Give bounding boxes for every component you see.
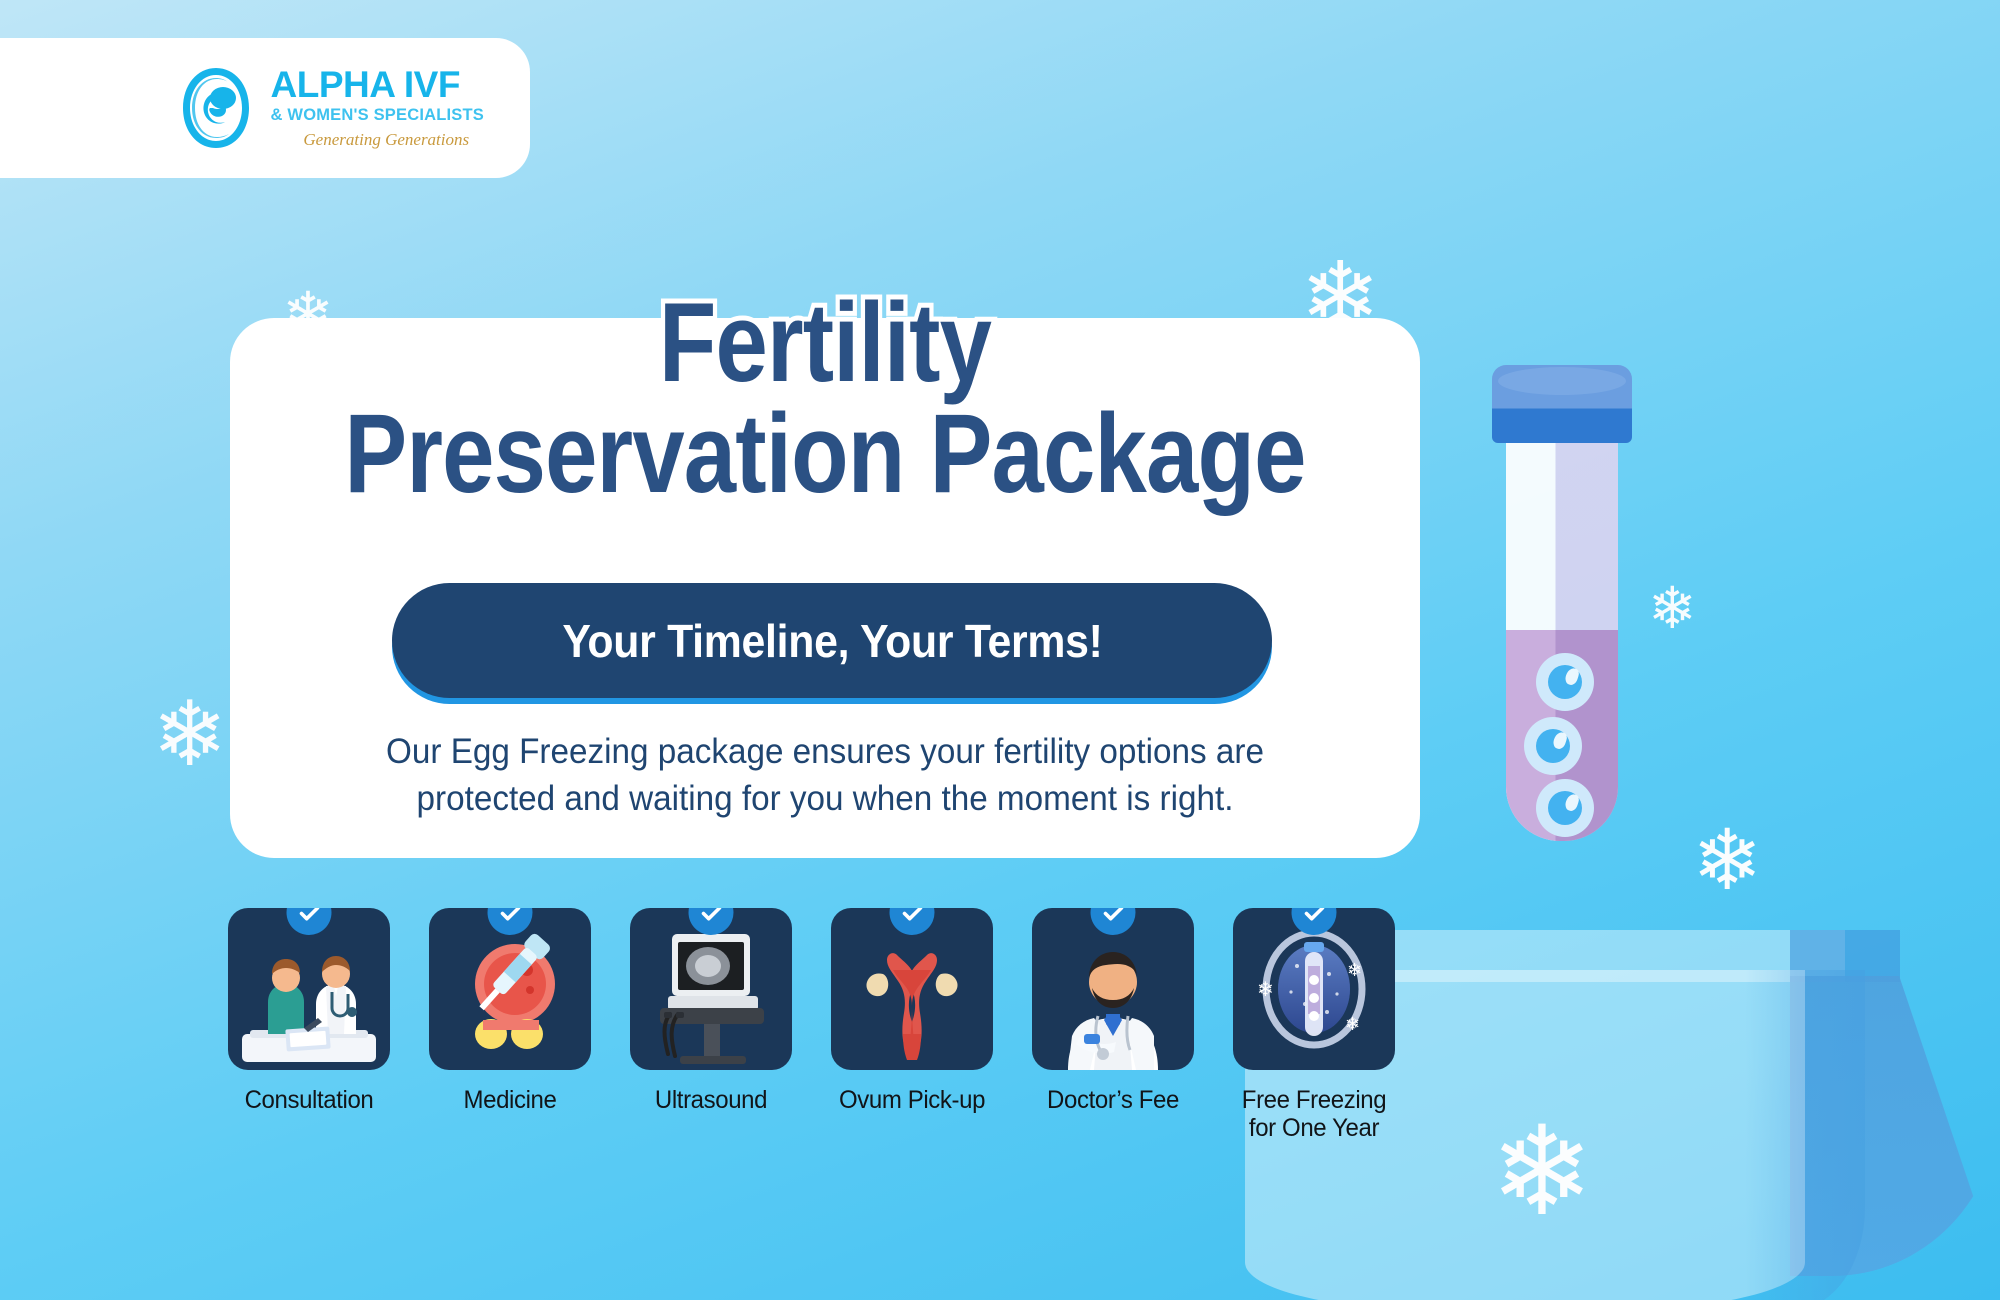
feature-tile: [1032, 908, 1194, 1070]
feature-label: Ovum Pick-up: [834, 1086, 990, 1114]
page-title-line1: Fertility: [659, 280, 991, 405]
feature-tile: [429, 908, 591, 1070]
snowflake-icon: ❄: [1692, 818, 1762, 902]
snowflake-icon: ❄: [1490, 1110, 1594, 1234]
page-title-line2: Preservation Package: [275, 399, 1375, 510]
feature-label: Free Freezing for One Year: [1236, 1086, 1392, 1142]
feature-tile: ❄ ❄ ❄: [1233, 908, 1395, 1070]
feature-item-free-freezing: ❄ ❄ ❄ Free Freezing for One Year: [1233, 908, 1395, 1142]
brand-tagline: Generating Generations: [285, 130, 469, 150]
hero-description: Our Egg Freezing package ensures your fe…: [326, 728, 1324, 823]
feature-label-line2: for One Year: [1249, 1114, 1379, 1142]
tagline-banner-text: Your Timeline, Your Terms!: [562, 614, 1102, 668]
brand-logo-card: ALPHA IVF & WOMEN'S SPECIALISTS Generati…: [0, 38, 530, 178]
snowflake-icon: ❄: [152, 690, 227, 780]
feature-label: Ultrasound: [633, 1086, 789, 1114]
feature-item-ovum-pick-up: Ovum Pick-up: [831, 908, 993, 1142]
feature-item-consultation: Consultation: [228, 908, 390, 1142]
page-title: Fertility Preservation Package: [275, 288, 1375, 510]
feature-label: Doctor’s Fee: [1035, 1086, 1191, 1114]
feature-item-medicine: Medicine: [429, 908, 591, 1142]
feature-label: Consultation: [231, 1086, 387, 1114]
feature-label-line1: Free Freezing: [1242, 1086, 1386, 1114]
svg-text:❄: ❄: [1257, 977, 1274, 1001]
test-tube-with-ova-icon: [1492, 365, 1632, 845]
feature-tile: [228, 908, 390, 1070]
feature-label: Medicine: [432, 1086, 588, 1114]
feature-item-doctors-fee: Doctor’s Fee: [1032, 908, 1194, 1142]
feature-tile: [831, 908, 993, 1070]
brand-subtitle: & WOMEN'S SPECIALISTS: [271, 103, 484, 128]
snowflake-icon: ❄: [1648, 580, 1697, 638]
feature-tile: [630, 908, 792, 1070]
feature-item-ultrasound: Ultrasound: [630, 908, 792, 1142]
alpha-ivf-spiral-embryo-icon: [177, 64, 255, 152]
brand-name: ALPHA IVF: [271, 66, 460, 104]
feature-list: Consultation: [228, 908, 1428, 1142]
tagline-banner: Your Timeline, Your Terms!: [392, 583, 1272, 698]
svg-text:❄: ❄: [1345, 1014, 1360, 1035]
svg-text:❄: ❄: [1347, 960, 1362, 981]
